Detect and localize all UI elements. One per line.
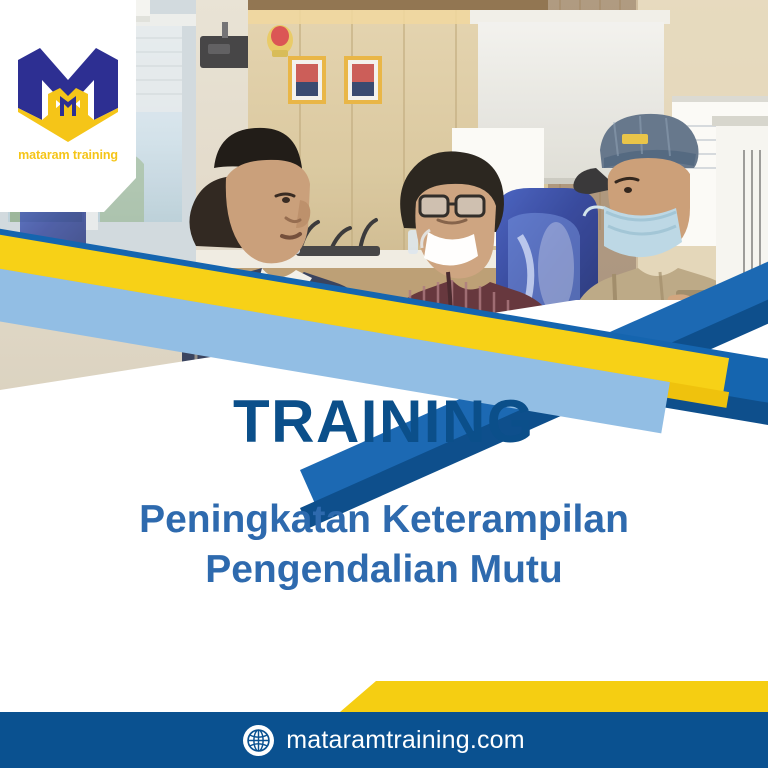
- poster-title: TRAINING: [0, 392, 768, 452]
- poster-subtitle: Peningkatan Keterampilan Pengendalian Mu…: [0, 495, 768, 595]
- mataram-m-chevron-logo-icon: [16, 46, 120, 142]
- footer-content: mataramtraining.com: [243, 725, 525, 756]
- footer-website-url[interactable]: mataramtraining.com: [286, 726, 525, 755]
- logo-panel: mataram training: [0, 0, 136, 212]
- training-poster: mataram training TRAINING Peningkatan Ke…: [0, 0, 768, 768]
- globe-glyph: [246, 728, 271, 753]
- footer-bar: mataramtraining.com: [0, 712, 768, 768]
- subtitle-line-1: Peningkatan Keterampilan: [0, 495, 768, 545]
- logo-wordmark: mataram training: [0, 148, 136, 162]
- subtitle-line-2: Pengendalian Mutu: [0, 545, 768, 595]
- yellow-accent-bar: [340, 681, 768, 712]
- globe-icon: [243, 725, 274, 756]
